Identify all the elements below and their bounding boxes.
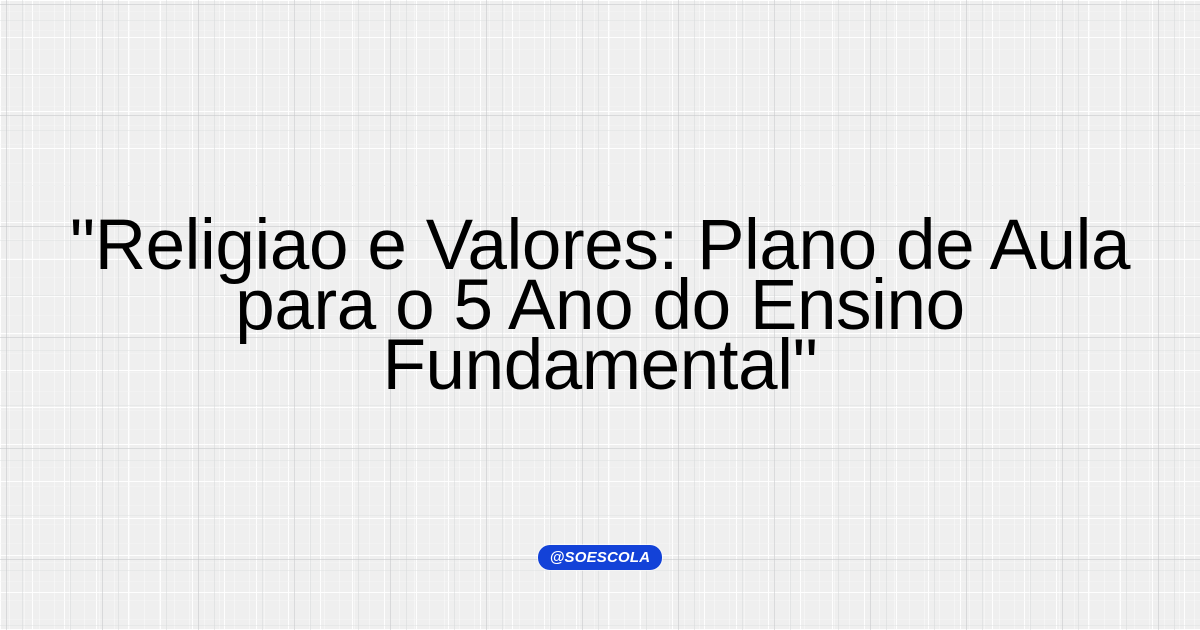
title-block: "Religiao e Valores: Plano de Aula para … — [0, 0, 1200, 630]
page-title: "Religiao e Valores: Plano de Aula para … — [16, 216, 1184, 396]
watermark-label: @SOESCOLA — [550, 550, 651, 565]
poster-canvas: "Religiao e Valores: Plano de Aula para … — [0, 0, 1200, 630]
watermark-badge: @SOESCOLA — [538, 545, 662, 570]
